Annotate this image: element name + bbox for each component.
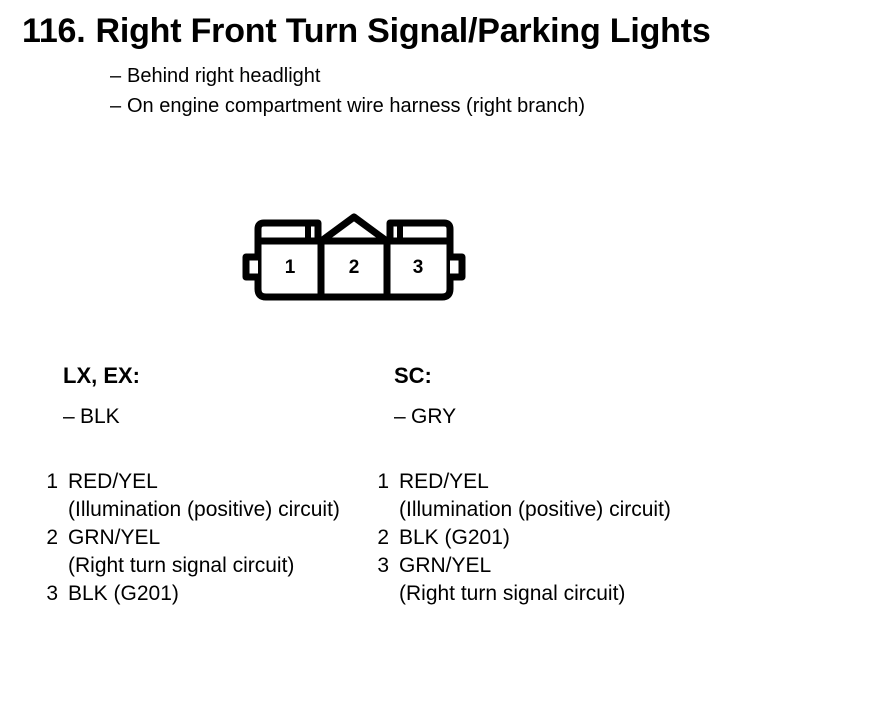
- pin-list: 1 RED/YEL (Illumination (positive) circu…: [40, 468, 380, 608]
- bullet-dash-icon: –: [110, 96, 127, 116]
- pin-description: (Illumination (positive) circuit): [399, 496, 711, 524]
- pin-description: (Right turn signal circuit): [399, 580, 711, 608]
- variant-heading: SC:: [394, 365, 432, 387]
- bullet-dash-icon: –: [110, 66, 127, 86]
- header-bullet-1-text: On engine compartment wire harness (righ…: [127, 95, 585, 117]
- pin-wire-color: RED/YEL: [399, 468, 489, 496]
- pin-row: 3 BLK (G201): [40, 580, 380, 608]
- page-title-text: Right Front Turn Signal/Parking Lights: [96, 12, 711, 50]
- pin-index: 2: [371, 524, 389, 552]
- connector-terminal-3-label: 3: [413, 257, 424, 278]
- variant-color-text: GRY: [411, 405, 456, 428]
- pin-row: 1 RED/YEL (Illumination (positive) circu…: [40, 468, 380, 524]
- variant-heading: LX, EX:: [63, 365, 140, 387]
- pin-wire-color: GRN/YEL: [399, 552, 491, 580]
- connector-terminal-2-label: 2: [349, 257, 360, 278]
- pin-main-line: 3 BLK (G201): [40, 580, 380, 608]
- pin-main-line: 2 GRN/YEL: [40, 524, 380, 552]
- connector-diagram: 1 2 3: [238, 205, 478, 310]
- pin-index: 3: [40, 580, 58, 608]
- pin-wire-color: GRN/YEL: [68, 524, 160, 552]
- connector-illustration: 1 2 3: [238, 205, 478, 310]
- bullet-dash-icon: –: [63, 406, 80, 427]
- pin-description: (Illumination (positive) circuit): [68, 496, 380, 524]
- pin-main-line: 2 BLK (G201): [371, 524, 711, 552]
- bullet-dash-icon: –: [394, 406, 411, 427]
- header-bullet-0: –Behind right headlight: [110, 66, 320, 86]
- header-bullet-1: –On engine compartment wire harness (rig…: [110, 96, 585, 116]
- connector-right-ear: [450, 257, 462, 277]
- variant-connector-color: –GRY: [394, 406, 456, 427]
- pin-wire-color: RED/YEL: [68, 468, 158, 496]
- pin-list: 1 RED/YEL (Illumination (positive) circu…: [371, 468, 711, 608]
- connector-terminal-1-label: 1: [285, 257, 296, 278]
- connector-left-ear: [246, 257, 258, 277]
- pin-index: 2: [40, 524, 58, 552]
- pin-row: 2 BLK (G201): [371, 524, 711, 552]
- pin-wire-color: BLK (G201): [68, 580, 179, 608]
- page-title: 116.Right Front Turn Signal/Parking Ligh…: [22, 14, 711, 48]
- header-bullet-0-text: Behind right headlight: [127, 65, 320, 87]
- pin-row: 1 RED/YEL (Illumination (positive) circu…: [371, 468, 711, 524]
- pin-index: 1: [40, 468, 58, 496]
- variant-color-text: BLK: [80, 405, 120, 428]
- pin-row: 3 GRN/YEL (Right turn signal circuit): [371, 552, 711, 608]
- pin-main-line: 3 GRN/YEL: [371, 552, 711, 580]
- pin-main-line: 1 RED/YEL: [40, 468, 380, 496]
- pin-row: 2 GRN/YEL (Right turn signal circuit): [40, 524, 380, 580]
- pin-index: 3: [371, 552, 389, 580]
- pin-index: 1: [371, 468, 389, 496]
- pin-wire-color: BLK (G201): [399, 524, 510, 552]
- pin-description: (Right turn signal circuit): [68, 552, 380, 580]
- page-title-number: 116.: [22, 12, 86, 50]
- pin-main-line: 1 RED/YEL: [371, 468, 711, 496]
- variant-connector-color: –BLK: [63, 406, 120, 427]
